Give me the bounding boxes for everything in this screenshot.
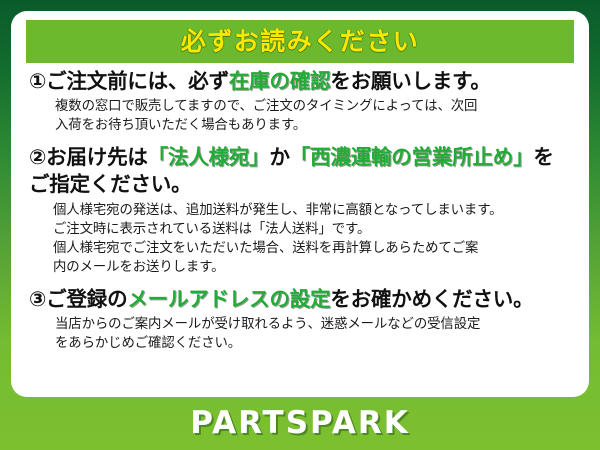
notice-item-3-marker: ③ <box>29 287 46 311</box>
notice-item-2-body-line-4: 内のメールをお送りします。 <box>53 258 573 277</box>
notice-item-3-heading: ③ご登録のメールアドレスの設定をお確かめください。 <box>29 286 573 312</box>
notice-item-2-heading-highlight-1: 「法人様宛」 <box>148 145 270 169</box>
notice-item-2-heading-highlight-2: 「西濃運輸の営業所止め」 <box>290 145 534 169</box>
notice-item-2-body-line-3: 個人様宅宛でご注文をいただいた場合、送料を再計算しあらためてご案 <box>53 239 573 258</box>
notice-item-1-marker: ① <box>29 69 46 93</box>
notice-item-2-heading: ②お届け先は「法人様宛」か「西濃運輸の営業所止め」をご指定ください。 <box>29 144 573 196</box>
notice-item-1: ①ご注文前には、必ず在庫の確認をお願いします。 複数の窓口で販売してますので、ご… <box>29 68 573 135</box>
notice-item-1-body-line-2: 入荷をお待ち頂いただく場合もあります。 <box>55 116 573 135</box>
notice-item-1-body: 複数の窓口で販売してますので、ご注文のタイミングによっては、次回 入荷をお待ち頂… <box>55 97 573 135</box>
notice-item-1-body-line-1: 複数の窓口で販売してますので、ご注文のタイミングによっては、次回 <box>55 97 573 116</box>
notice-item-2-marker: ② <box>29 145 46 169</box>
footer-brand-bar: PARTSPARK <box>0 397 600 450</box>
page-title: 必ずお読みください <box>181 29 420 54</box>
notice-item-2-body-line-2: ご注文時に表示されている送料は「法人送料」です。 <box>53 220 573 239</box>
header-banner: 必ずお読みください <box>26 20 574 63</box>
notice-item-1-heading: ①ご注文前には、必ず在庫の確認をお願いします。 <box>29 68 573 94</box>
notice-item-3-heading-part-1: ご登録の <box>46 287 127 311</box>
notice-item-2: ②お届け先は「法人様宛」か「西濃運輸の営業所止め」をご指定ください。 個人様宅宛… <box>29 144 573 277</box>
notice-panel: 必ずお読みください ①ご注文前には、必ず在庫の確認をお願いします。 複数の窓口で… <box>11 11 589 397</box>
notice-item-1-heading-part-1: ご注文前には、必ず <box>46 69 229 93</box>
notice-item-2-heading-part-1: お届け先は <box>46 145 148 169</box>
brand-wordmark: PARTSPARK <box>190 408 410 439</box>
notice-card: 必ずお読みください ①ご注文前には、必ず在庫の確認をお願いします。 複数の窓口で… <box>0 0 600 450</box>
notice-item-3: ③ご登録のメールアドレスの設定をお確かめください。 当店からのご案内メールが受け… <box>29 286 573 353</box>
notice-item-3-heading-highlight: メールアドレスの設定 <box>127 287 330 311</box>
notice-item-3-body-line-2: をあらかじめご確認ください。 <box>55 334 573 353</box>
notice-item-1-heading-part-3: をお願いします。 <box>330 69 490 93</box>
notice-item-3-body-line-1: 当店からのご案内メールが受け取れるよう、迷惑メールなどの受信設定 <box>55 315 573 334</box>
notice-item-1-heading-highlight: 在庫の確認 <box>229 69 331 93</box>
notice-items: ①ご注文前には、必ず在庫の確認をお願いします。 複数の窓口で販売してますので、ご… <box>25 63 575 353</box>
notice-item-2-body-line-1: 個人様宅宛の発送は、追加送料が発生し、非常に高額となってしまいます。 <box>53 201 573 220</box>
notice-item-3-body: 当店からのご案内メールが受け取れるよう、迷惑メールなどの受信設定 をあらかじめご… <box>55 315 573 353</box>
notice-item-2-heading-part-3: か <box>269 145 289 169</box>
notice-item-3-heading-part-3: をお確かめください。 <box>330 287 533 311</box>
notice-item-2-body: 個人様宅宛の発送は、追加送料が発生し、非常に高額となってしまいます。 ご注文時に… <box>53 201 573 277</box>
